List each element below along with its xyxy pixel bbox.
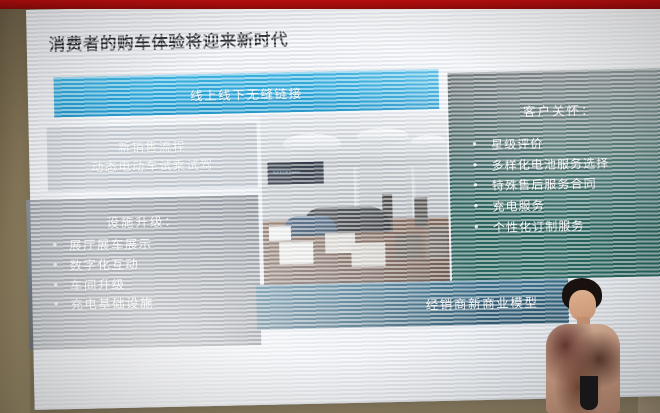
presenter-jacket <box>546 324 620 413</box>
photo-wall-display: Volkswagen <box>267 162 323 185</box>
banner-online-offline: 线上线下无缝链接 <box>53 69 439 117</box>
customer-care-list: 星级评价 多样化电池服务选择 特殊售后服务合同 充电服务 个性化订制服务 <box>449 131 660 239</box>
box-facility-upgrade: 设施升级： 展厅展车展示 数字化互动 车间升级 充电基础设施 <box>26 195 261 350</box>
slide-title: 消费者的购车体验将迎来新时代 <box>48 22 468 55</box>
new-sales-process-line1: 新销售流程 <box>118 138 186 158</box>
photo-desk <box>269 226 291 240</box>
facility-upgrade-list: 展厅展车展示 数字化互动 车间升级 充电基础设施 <box>27 232 261 316</box>
banner-dealer-business-model-label: 经销商新商业模型 <box>425 292 538 313</box>
facility-upgrade-heading: 设施升级： <box>26 209 258 233</box>
box-customer-care: 客户关怀： 星级评价 多样化电池服务选择 特殊售后服务合同 充电服务 个性化订制… <box>447 68 660 281</box>
customer-care-heading: 客户关怀： <box>448 98 660 122</box>
presenter <box>540 276 632 413</box>
photo-seating <box>395 233 422 260</box>
photo-ottoman <box>279 242 313 265</box>
new-sales-process-line2: 动态电动车试乘试驾 <box>91 156 214 177</box>
photo-seating <box>425 225 448 259</box>
list-item: 个性化订制服务 <box>471 213 660 238</box>
photo-wall-display-label: Volkswagen <box>273 169 301 175</box>
showroom-photo: Volkswagen <box>260 113 450 285</box>
photo-scene: Volkswagen 消费者的购车体验将迎来新时代 线上线下无缝链接 新销售流程… <box>0 0 660 413</box>
presenter-top <box>580 376 598 410</box>
banner-online-offline-label: 线上线下无缝链接 <box>190 82 303 103</box>
red-top-band <box>0 0 660 9</box>
list-item: 充电基础设施 <box>50 291 260 315</box>
box-new-sales-process: 新销售流程 动态电动车试乘试驾 <box>47 123 258 192</box>
photo-partition <box>414 197 428 227</box>
banner-dealer-business-model: 经销商新商业模型 <box>256 278 569 330</box>
photo-ottoman <box>351 242 386 267</box>
